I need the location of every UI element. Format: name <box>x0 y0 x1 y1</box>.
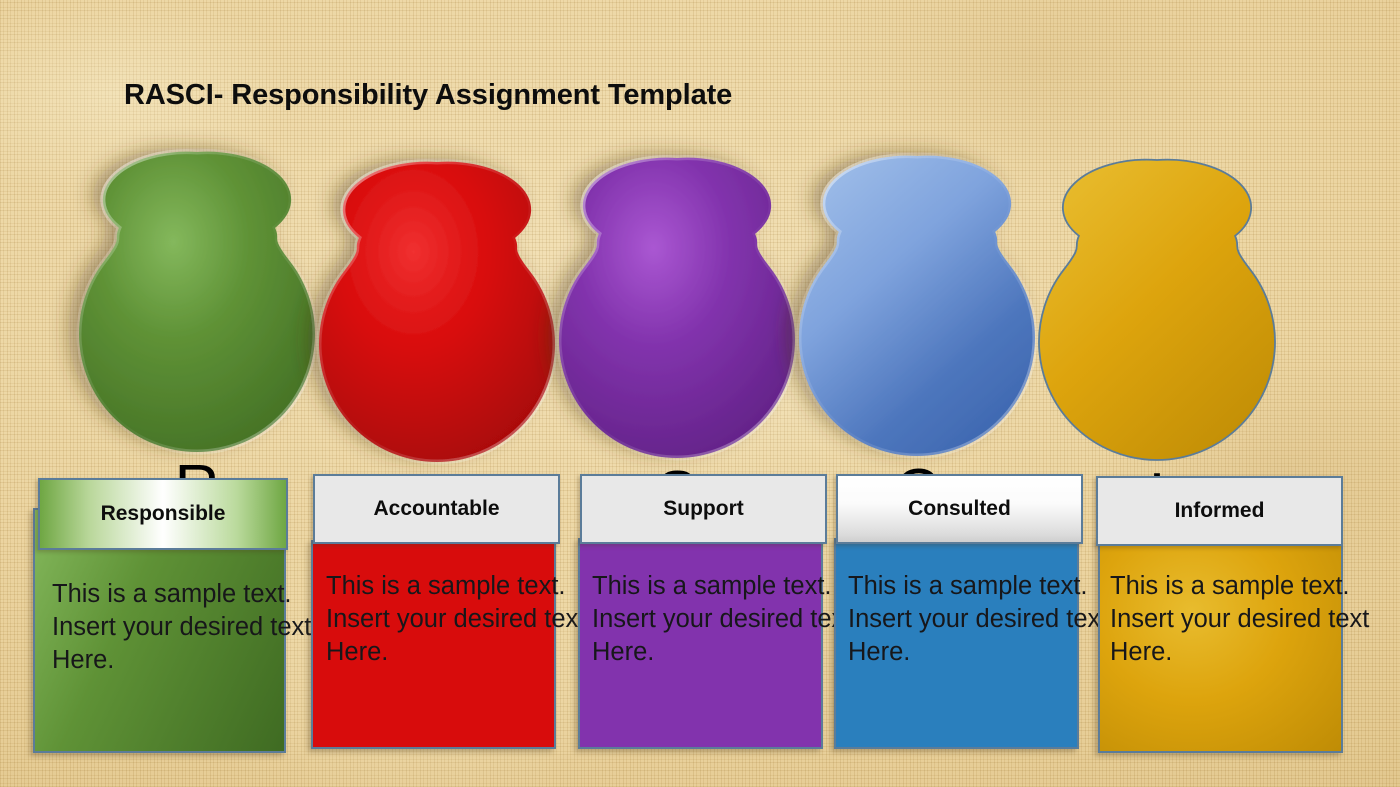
card-sample-text-line: Insert your desired text <box>592 603 851 636</box>
card-sample-text-line: Insert your desired text <box>326 603 585 636</box>
card-sample-text-line: This is a sample text. <box>1110 570 1369 603</box>
card-sample-text-line: Here. <box>52 644 311 677</box>
card-sample-text-line: This is a sample text. <box>848 570 1107 603</box>
card-title-r: Responsible <box>101 502 226 526</box>
card-title-i: Informed <box>1175 499 1265 523</box>
card-header-r[interactable]: Responsible <box>38 478 288 550</box>
card-header-c[interactable]: Consulted <box>836 474 1083 544</box>
card-sample-text-i: This is a sample text.Insert your desire… <box>1110 570 1369 669</box>
card-sample-text-r: This is a sample text.Insert your desire… <box>52 578 311 677</box>
slide-canvas: RASCI- Responsibility Assignment Templat… <box>0 0 1400 787</box>
card-sample-text-line: Insert your desired text <box>1110 603 1369 636</box>
card-header-i[interactable]: Informed <box>1096 476 1343 546</box>
flask-body-s <box>559 158 795 458</box>
card-sample-text-line: Here. <box>592 636 851 669</box>
flask-body-r <box>79 152 315 452</box>
card-title-a: Accountable <box>373 497 499 521</box>
flask-shape-i <box>1007 160 1307 500</box>
card-sample-text-line: This is a sample text. <box>592 570 851 603</box>
card-header-s[interactable]: Support <box>580 474 827 544</box>
flask-body-c <box>799 156 1035 456</box>
card-sample-text-line: This is a sample text. <box>326 570 585 603</box>
card-title-s: Support <box>663 497 743 521</box>
flask-body-i <box>1039 160 1275 460</box>
card-sample-text-s: This is a sample text.Insert your desire… <box>592 570 851 669</box>
card-title-c: Consulted <box>908 497 1011 521</box>
card-sample-text-line: Here. <box>848 636 1107 669</box>
card-sample-text-line: Insert your desired text <box>848 603 1107 636</box>
card-sample-text-c: This is a sample text.Insert your desire… <box>848 570 1107 669</box>
card-sample-text-line: This is a sample text. <box>52 578 311 611</box>
card-sample-text-a: This is a sample text.Insert your desire… <box>326 570 585 669</box>
card-sample-text-line: Here. <box>326 636 585 669</box>
card-sample-text-line: Insert your desired text <box>52 611 311 644</box>
card-sample-text-line: Here. <box>1110 636 1369 669</box>
card-header-a[interactable]: Accountable <box>313 474 560 544</box>
flask-body-a <box>319 162 555 462</box>
